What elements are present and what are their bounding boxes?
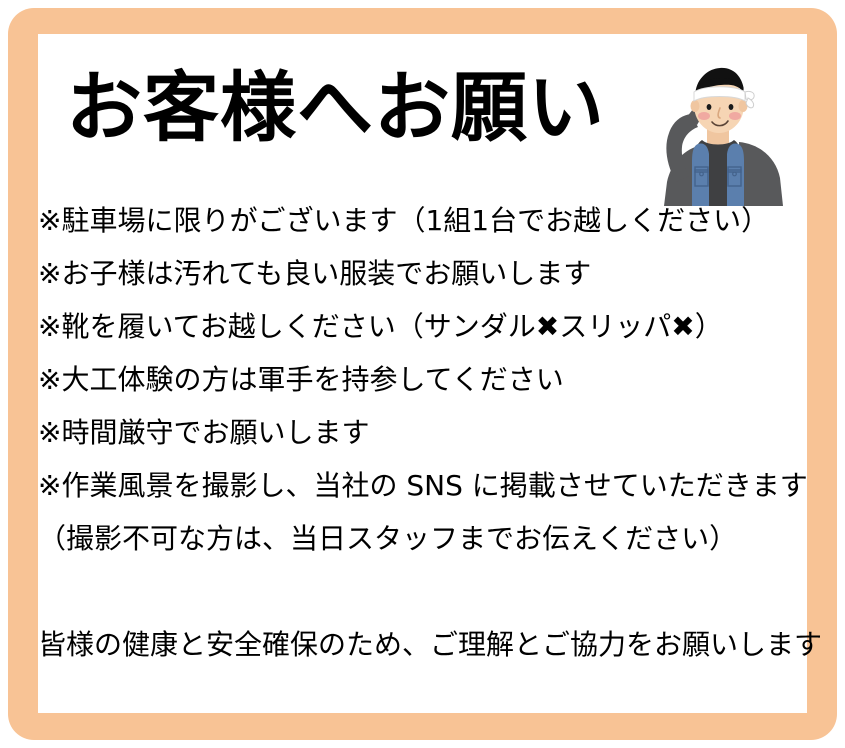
notice-item: ※作業風景を撮影し、当社の SNS に掲載させていただきます — [38, 459, 807, 512]
notice-item: ※お子様は汚れても良い服装でお願いします — [38, 247, 807, 300]
poster-content: お客様へお願い — [38, 34, 807, 712]
notice-item: ※時間厳守でお願いします — [38, 406, 807, 459]
notice-item: ※駐車場に限りがございます（1組1台でお越しください） — [38, 194, 807, 247]
notice-item: （撮影不可な方は、当日スタッフまでお伝えください） — [38, 512, 807, 565]
title-row: お客様へお願い — [38, 56, 807, 196]
page-title: お客様へお願い — [66, 56, 605, 160]
notice-item: ※大工体験の方は軍手を持参してください — [38, 353, 807, 406]
notice-poster: お客様へお願い — [0, 0, 845, 748]
worker-saluting-illustration — [636, 54, 796, 206]
notice-list: ※駐車場に限りがございます（1組1台でお越しください） ※お子様は汚れても良い服… — [38, 194, 807, 671]
notice-spacer — [38, 565, 807, 618]
notice-item: ※靴を履いてお越しください（サンダル✖スリッパ✖） — [38, 300, 807, 353]
closing-message: 皆様の健康と安全確保のため、ご理解とご協力をお願いします — [38, 618, 807, 671]
